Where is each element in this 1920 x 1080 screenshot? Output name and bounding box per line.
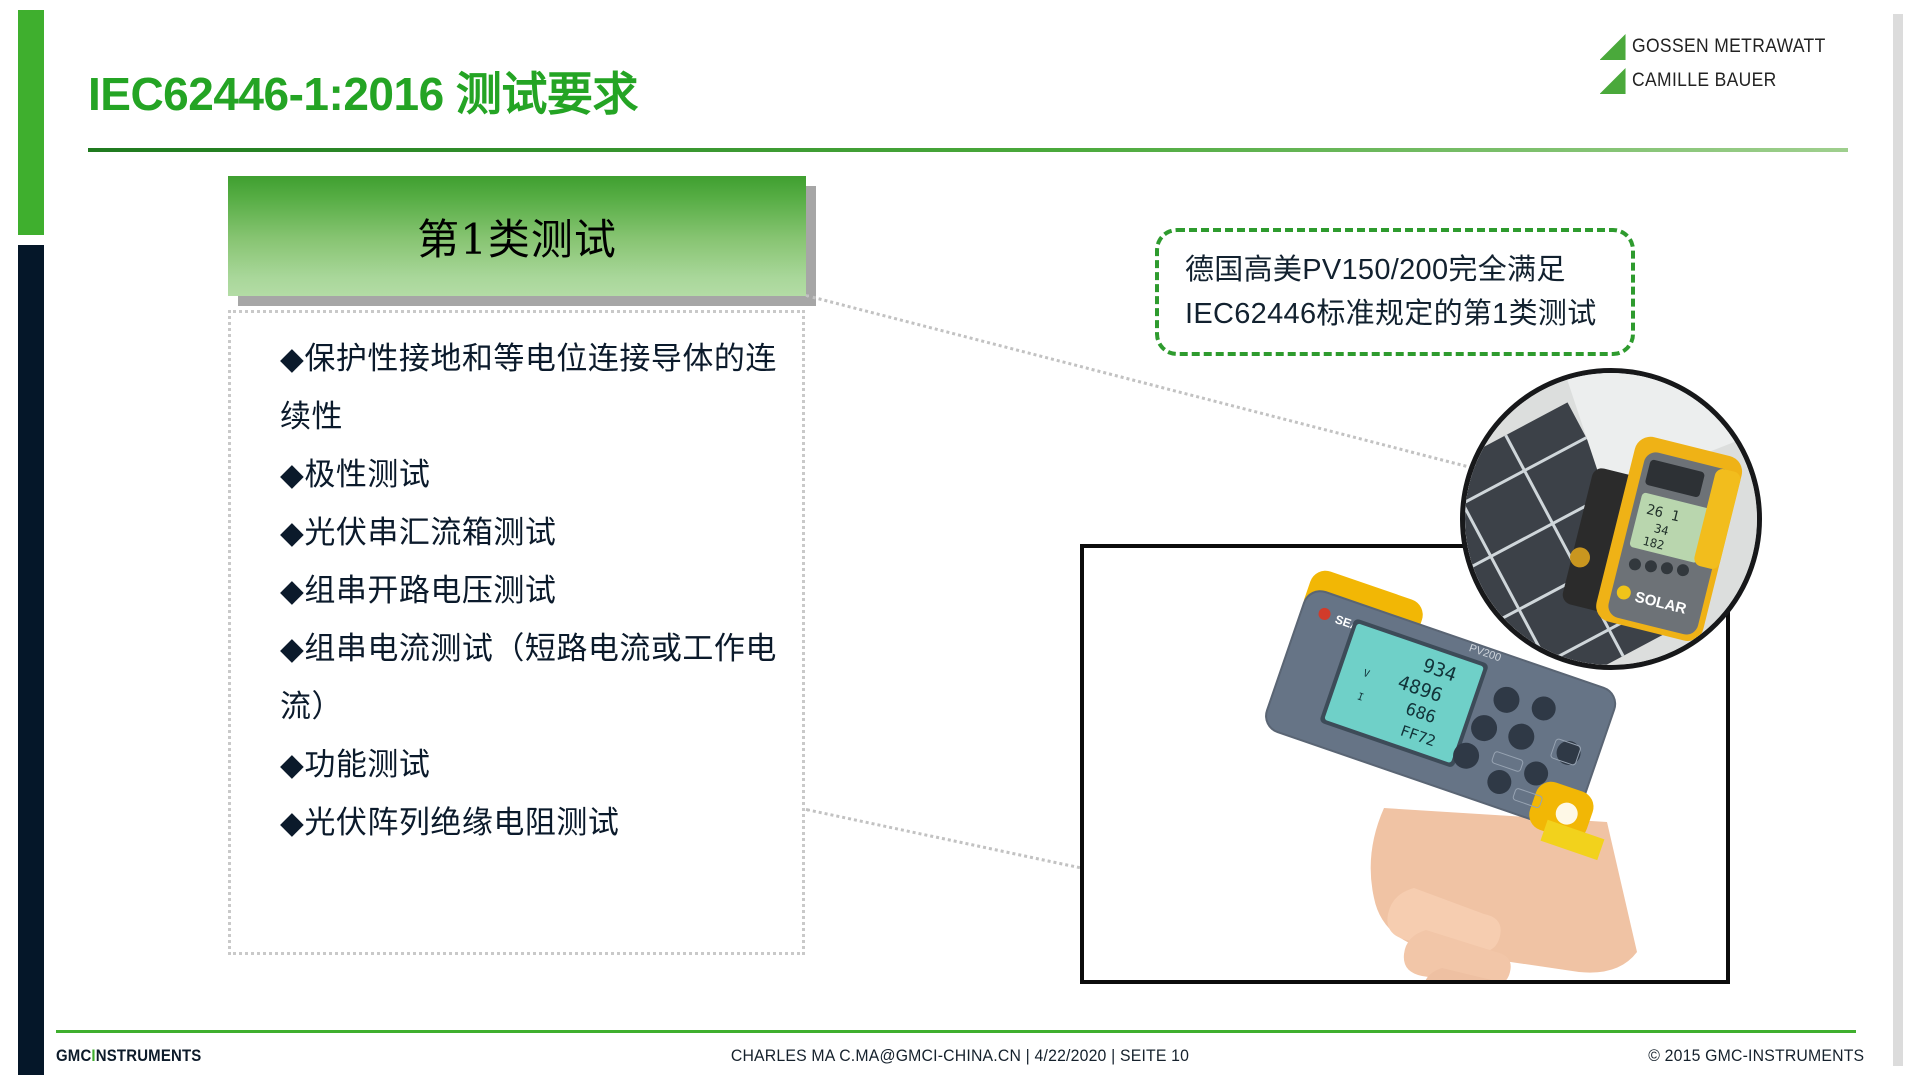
- logo-row-camille: CAMILLE BAUER: [1600, 64, 1842, 98]
- connector-line-bottom: [806, 808, 1100, 873]
- callout-box: 德国高美PV150/200完全满足 IEC62446标准规定的第1类测试: [1155, 228, 1635, 356]
- slide-root: IEC62446-1:2016 测试要求 GOSSEN METRAWATT CA…: [0, 0, 1920, 1080]
- list-item: ◆极性测试: [280, 446, 800, 504]
- logo-row-gossen: GOSSEN METRAWATT: [1600, 30, 1842, 64]
- title-underline-rule: [88, 148, 1848, 152]
- bullet-list: ◆保护性接地和等电位连接导体的连续性 ◆极性测试 ◆光伏串汇流箱测试 ◆组串开路…: [280, 330, 800, 852]
- list-item: ◆保护性接地和等电位连接导体的连续性: [280, 330, 800, 446]
- photo-solar-irradiance-meter: 26 1 34 182 SOLAR: [1460, 368, 1762, 670]
- footer-presenter-info: CHARLES MA C.MA@GMCI-CHINA.CN | 4/22/202…: [67, 1046, 1853, 1066]
- category-header-box: 第1类测试: [228, 176, 806, 296]
- green-triangle-icon: [1600, 68, 1626, 94]
- list-item: ◆组串开路电压测试: [280, 562, 800, 620]
- left-navy-accent-bar: [18, 245, 44, 1075]
- list-item: ◆功能测试: [280, 736, 800, 794]
- category-box-fill: 第1类测试: [228, 176, 806, 296]
- solar-meter-illustration: 26 1 34 182 SOLAR: [1465, 373, 1757, 665]
- footer-divider-rule: [56, 1030, 1856, 1033]
- footer-copyright: © 2015 GMC-INSTRUMENTS: [1648, 1046, 1864, 1066]
- green-triangle-icon: [1600, 34, 1626, 60]
- right-gray-accent-bar: [1893, 14, 1903, 1066]
- company-logo: GOSSEN METRAWATT CAMILLE BAUER: [1600, 30, 1842, 98]
- category-box-label: 第1类测试: [417, 206, 617, 267]
- logo-text-camille: CAMILLE BAUER: [1632, 70, 1777, 92]
- callout-line-2: IEC62446标准规定的第1类测试: [1185, 292, 1631, 336]
- page-title: IEC62446-1:2016 测试要求: [88, 58, 638, 124]
- left-green-accent-bar: [18, 10, 44, 235]
- callout-line-1: 德国高美PV150/200完全满足: [1185, 248, 1631, 292]
- list-item: ◆光伏阵列绝缘电阻测试: [280, 794, 800, 852]
- list-item: ◆组串电流测试（短路电流或工作电流）: [280, 620, 800, 736]
- list-item: ◆光伏串汇流箱测试: [280, 504, 800, 562]
- logo-text-gossen: GOSSEN METRAWATT: [1632, 36, 1826, 58]
